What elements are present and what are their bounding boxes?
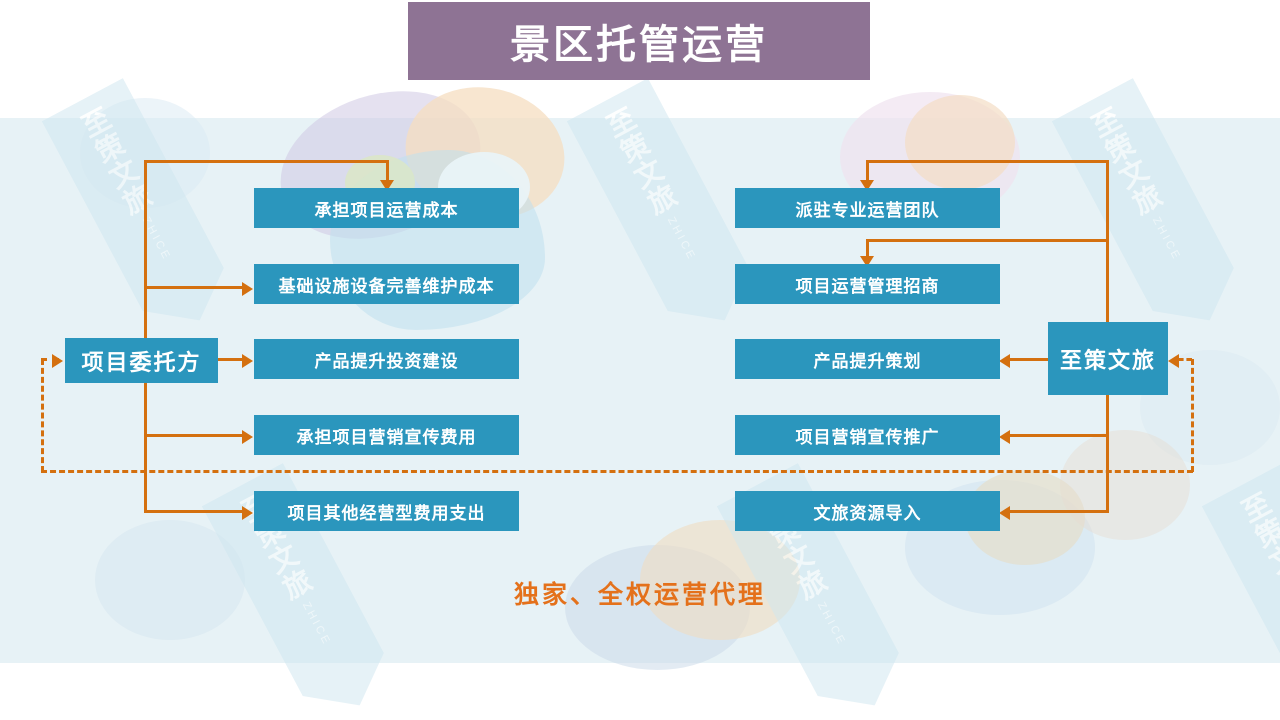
connector-left-trunk-vertical [144,160,147,340]
left-item-4-label: 承担项目营销宣传费用 [297,423,477,448]
slide-canvas: 至策文旅 ZHICE 至策文旅 ZHICE 至策文旅 ZHICE 至策文旅 ZH… [0,0,1280,720]
slide-title-bar: 景区托管运营 [408,2,870,80]
node-left-root[interactable]: 项目委托方 [65,338,218,383]
arrow-right-icon [242,354,253,368]
left-item-2-label: 基础设施设备完善维护成本 [279,272,495,297]
left-item-5-label: 项目其他经营型费用支出 [288,499,486,524]
connector-right-branch-3 [1010,358,1050,361]
right-item-5[interactable]: 文旅资源导入 [735,491,1000,531]
connector-left-branch-2 [144,286,244,289]
node-left-root-label: 项目委托方 [81,345,201,377]
right-item-1-label: 派驻专业运营团队 [796,196,940,221]
page-title: 景区托管运营 [510,12,768,70]
connector-left-box1-drop [386,160,389,182]
dashed-loop-right-vertical [1191,359,1194,472]
connector-right-lower-trunk [1106,395,1109,513]
node-right-root[interactable]: 至策文旅 [1048,322,1168,395]
right-item-4[interactable]: 项目营销宣传推广 [735,415,1000,455]
connector-right-box1-drop [866,160,869,182]
right-item-2-label: 项目运营管理招商 [796,272,940,297]
connector-right-branch-2-horizontal [866,239,1109,242]
connector-left-branch-4 [144,434,244,437]
arrow-left-icon [999,506,1010,520]
connector-left-branch-3 [218,358,244,361]
connector-left-branch-5 [144,510,244,513]
dashed-loop-left-vertical [41,359,44,472]
connector-right-top-horizontal [866,160,1109,163]
connector-left-top-horizontal [144,160,389,163]
arrow-left-icon [999,430,1010,444]
connector-left-lower-trunk [144,383,147,513]
right-item-4-label: 项目营销宣传推广 [796,423,940,448]
right-item-5-label: 文旅资源导入 [814,499,922,524]
left-item-3-label: 产品提升投资建设 [315,347,459,372]
right-item-3-label: 产品提升策划 [814,347,922,372]
left-item-5[interactable]: 项目其他经营型费用支出 [254,491,519,531]
connector-right-branch-5 [1010,510,1109,513]
connector-right-branch-4 [1010,434,1109,437]
right-item-3[interactable]: 产品提升策划 [735,339,1000,379]
left-item-1-label: 承担项目运营成本 [315,196,459,221]
node-right-root-label: 至策文旅 [1060,343,1156,375]
arrow-right-icon [242,282,253,296]
dashed-loop-bottom-horizontal [41,470,1193,473]
left-item-3[interactable]: 产品提升投资建设 [254,339,519,379]
left-item-4[interactable]: 承担项目营销宣传费用 [254,415,519,455]
arrow-left-icon [999,354,1010,368]
left-item-2[interactable]: 基础设施设备完善维护成本 [254,264,519,304]
dashed-loop-right-stub [1178,358,1192,361]
arrow-right-icon [52,354,63,368]
right-item-2[interactable]: 项目运营管理招商 [735,264,1000,304]
footer-caption: 独家、全权运营代理 [0,575,1280,611]
arrow-right-icon [242,506,253,520]
right-item-1[interactable]: 派驻专业运营团队 [735,188,1000,228]
left-item-1[interactable]: 承担项目运营成本 [254,188,519,228]
arrow-left-icon [1168,354,1179,368]
arrow-right-icon [242,430,253,444]
